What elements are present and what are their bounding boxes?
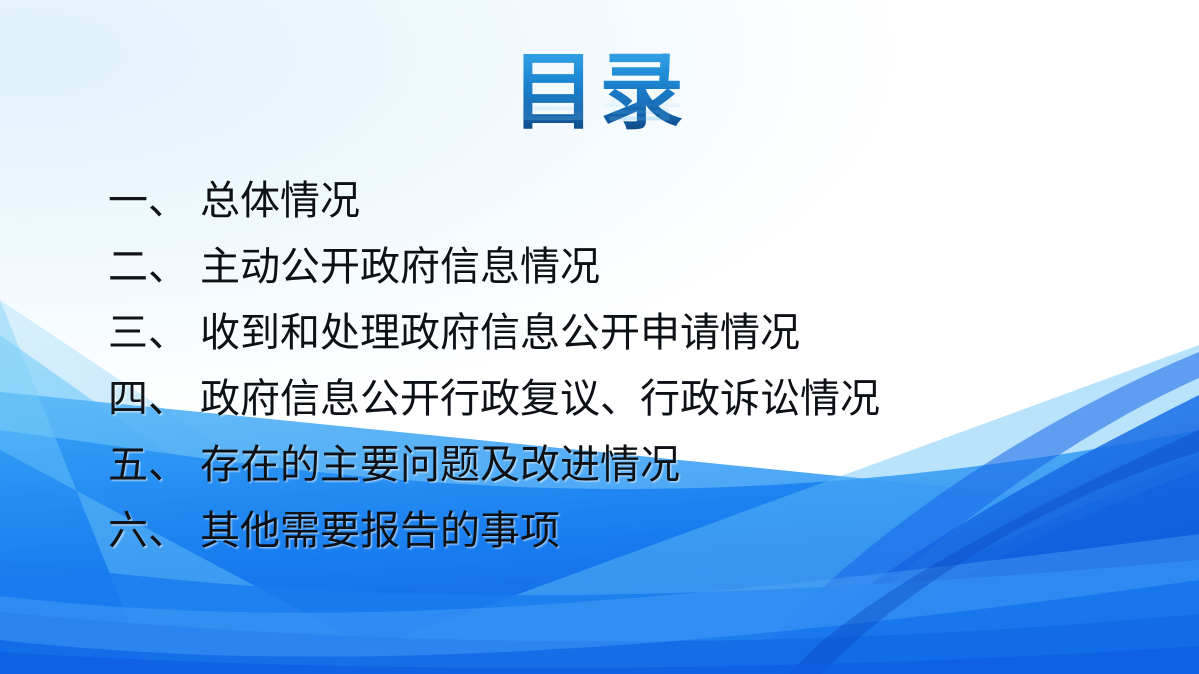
toc-item-label: 总体情况 (200, 178, 360, 224)
table-of-contents: 一、 总体情况 二、 主动公开政府信息情况 三、 收到和处理政府信息公开申请情况… (108, 178, 1168, 574)
toc-item-3[interactable]: 三、 收到和处理政府信息公开申请情况 (108, 310, 1168, 376)
toc-item-number: 五、 (108, 442, 200, 488)
toc-item-label: 其他需要报告的事项 (200, 508, 560, 554)
toc-item-4[interactable]: 四、 政府信息公开行政复议、行政诉讼情况 (108, 376, 1168, 442)
toc-item-number: 四、 (108, 376, 200, 422)
toc-item-1[interactable]: 一、 总体情况 (108, 178, 1168, 244)
toc-item-number: 六、 (108, 508, 200, 554)
toc-item-label: 主动公开政府信息情况 (200, 244, 600, 290)
toc-item-6[interactable]: 六、 其他需要报告的事项 (108, 508, 1168, 574)
toc-item-5[interactable]: 五、 存在的主要问题及改进情况 (108, 442, 1168, 508)
toc-item-number: 三、 (108, 310, 200, 356)
toc-item-2[interactable]: 二、 主动公开政府信息情况 (108, 244, 1168, 310)
toc-item-label: 政府信息公开行政复议、行政诉讼情况 (200, 376, 880, 422)
toc-item-number: 一、 (108, 178, 200, 224)
toc-item-number: 二、 (108, 244, 200, 290)
toc-item-label: 收到和处理政府信息公开申请情况 (200, 310, 800, 356)
presentation-slide: 目录 目录 一、 总体情况 二、 主动公开政府信息情况 三、 收到和处理政府信息… (0, 0, 1199, 674)
toc-item-label: 存在的主要问题及改进情况 (200, 442, 680, 488)
